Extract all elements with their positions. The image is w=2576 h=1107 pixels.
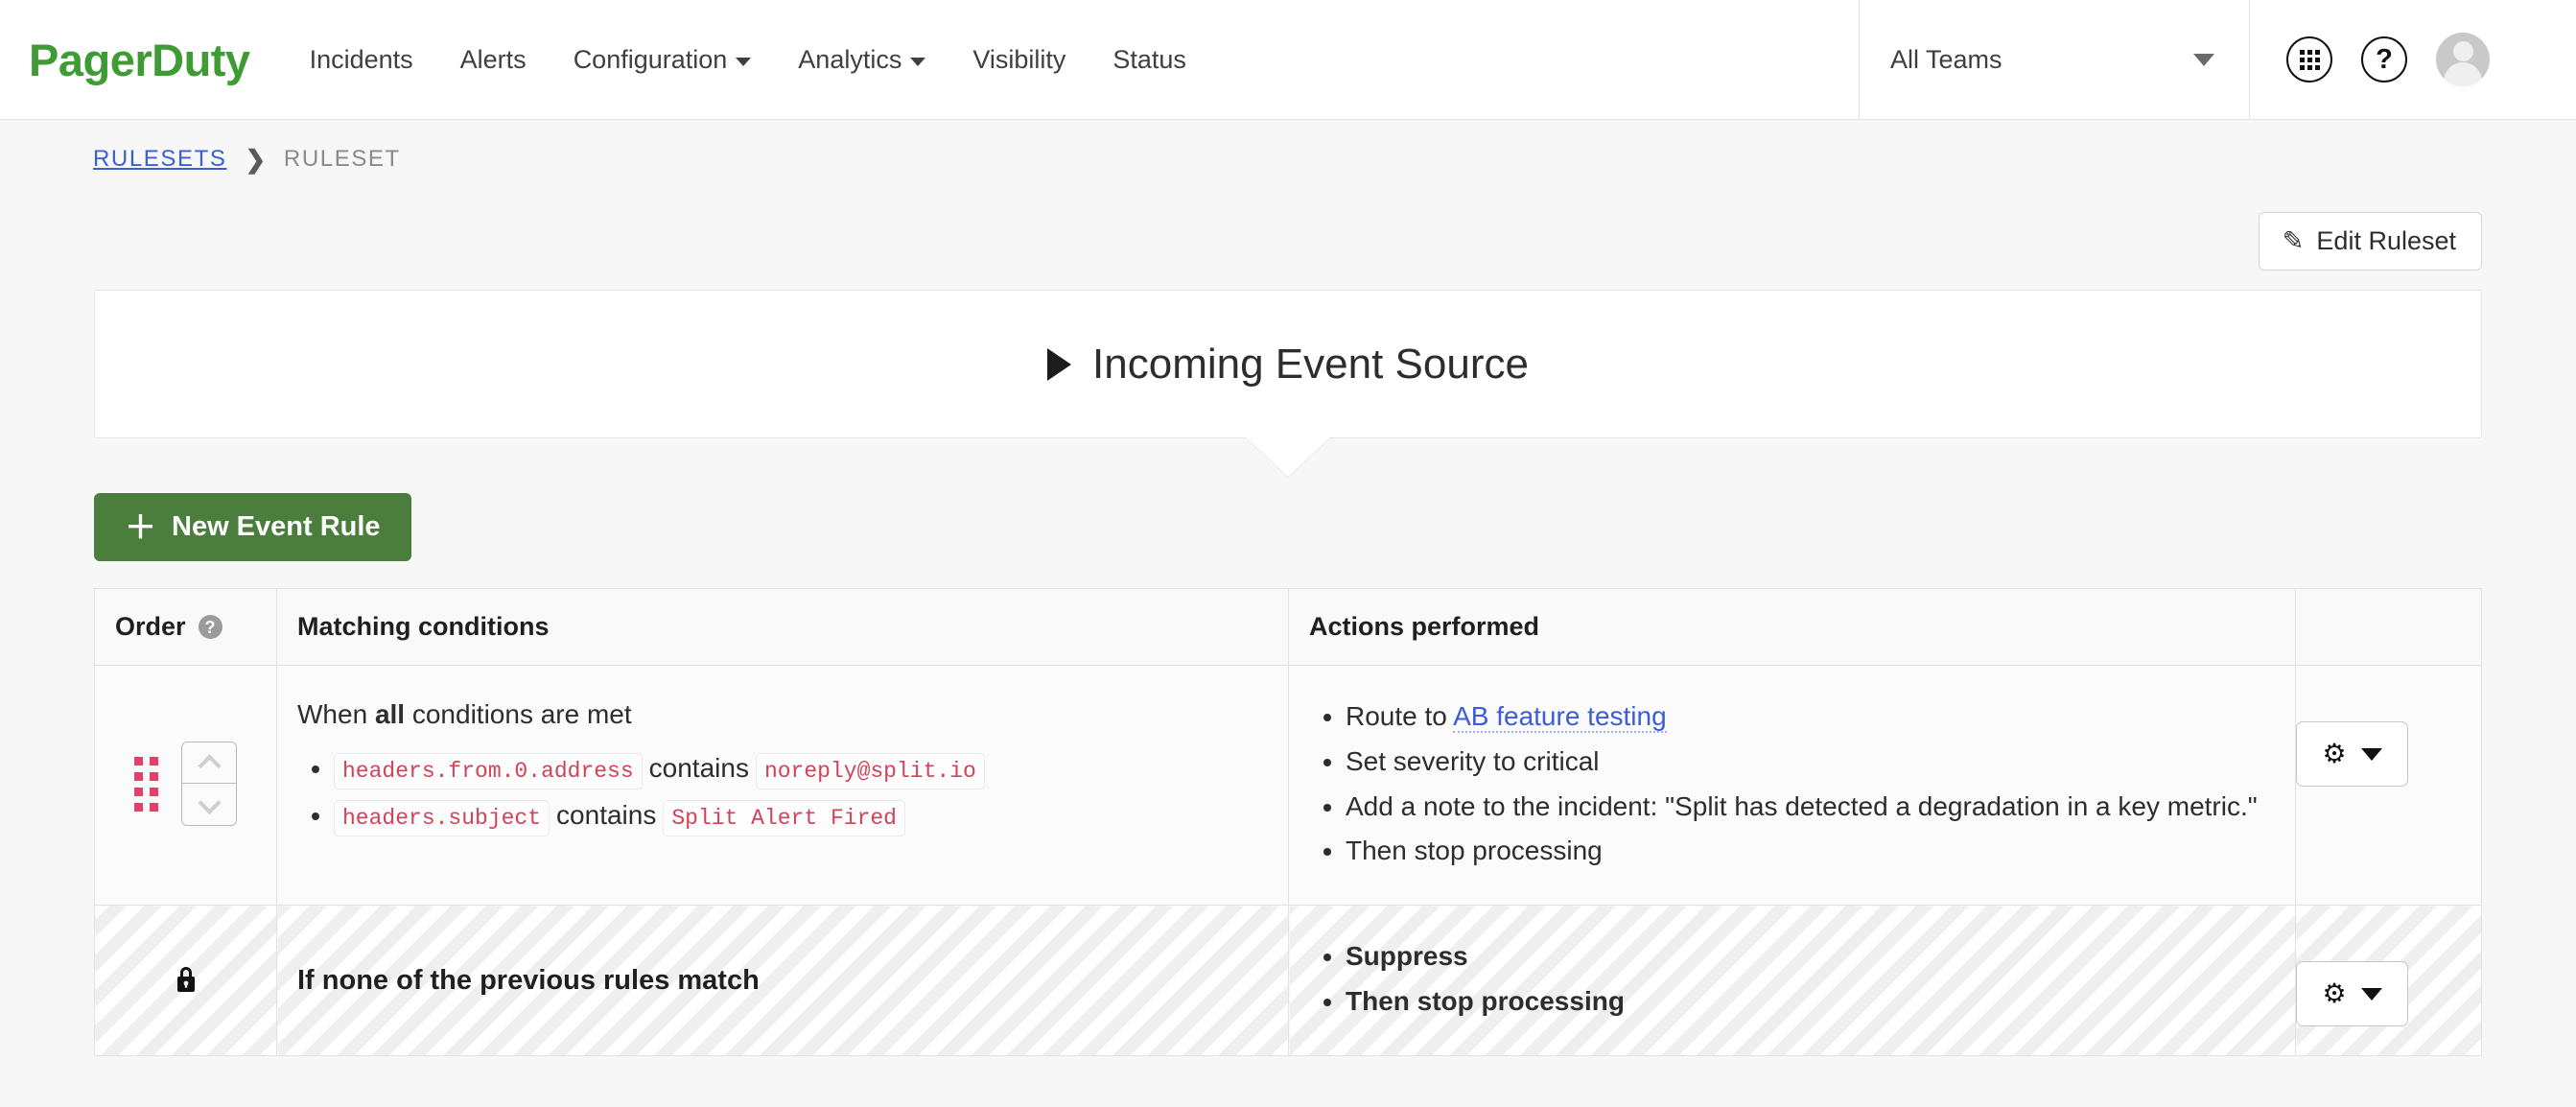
column-header-matching: Matching conditions — [277, 589, 1289, 666]
chevron-down-icon — [736, 58, 751, 66]
edit-ruleset-button[interactable]: ✎ Edit Ruleset — [2259, 212, 2482, 271]
action-item-stop: Then stop processing — [1346, 830, 2275, 873]
incoming-event-source-panel[interactable]: Incoming Event Source — [94, 290, 2482, 438]
nav-item-alerts-label: Alerts — [460, 45, 527, 75]
condition-value: Split Alert Fired — [663, 800, 905, 836]
action-item-note: Add a note to the incident: "Split has d… — [1346, 786, 2275, 829]
avatar[interactable] — [2436, 33, 2490, 86]
column-header-order-label: Order — [115, 612, 186, 642]
incoming-event-source-toggle[interactable]: Incoming Event Source — [1047, 341, 1529, 389]
nav-item-visibility[interactable]: Visibility — [972, 45, 1066, 75]
nav-item-incidents-label: Incidents — [310, 45, 413, 75]
action-item-suppress: Suppress — [1346, 935, 2275, 978]
gear-icon: ⚙ — [2322, 741, 2346, 767]
catchall-actions-list: Suppress Then stop processing — [1309, 935, 2275, 1024]
primary-nav: Incidents Alerts Configuration Analytics… — [310, 45, 1186, 75]
top-navbar: PagerDuty Incidents Alerts Configuration… — [0, 0, 2576, 120]
event-source-panel-wrap: Incoming Event Source — [0, 290, 2576, 438]
nav-item-configuration[interactable]: Configuration — [574, 45, 752, 75]
conditions-list: headers.from.0.addresscontainsnoreply@sp… — [297, 746, 1268, 838]
caret-down-icon — [2361, 748, 2382, 761]
condition-item: headers.from.0.addresscontainsnoreply@sp… — [334, 746, 1268, 790]
table-row: If none of the previous rules match Supp… — [95, 906, 2482, 1056]
new-event-rule-row: ＋ New Event Rule — [0, 493, 2576, 561]
plus-icon: ＋ — [125, 511, 156, 543]
panel-pointer-tail — [1246, 437, 1330, 477]
condition-field: headers.subject — [334, 800, 550, 836]
when-strong: all — [375, 699, 405, 729]
rules-table-body: When all conditions are met headers.from… — [95, 666, 2482, 1056]
condition-value: noreply@split.io — [756, 753, 985, 789]
nav-item-analytics-label: Analytics — [798, 45, 902, 75]
catchall-label-cell: If none of the previous rules match — [277, 906, 1289, 1056]
event-rules-table: Order ? Matching conditions Actions perf… — [94, 588, 2482, 1056]
column-header-order: Order ? — [95, 589, 277, 666]
chevron-right-icon: ❯ — [246, 145, 268, 175]
condition-operator: contains — [649, 753, 749, 783]
rules-table-head: Order ? Matching conditions Actions perf… — [95, 589, 2482, 666]
row-menu-cell: ⚙ — [2296, 666, 2482, 906]
nav-item-configuration-label: Configuration — [574, 45, 728, 75]
catchall-label: If none of the previous rules match — [297, 935, 1268, 997]
condition-operator: contains — [556, 800, 656, 830]
breadcrumb: RULESETS ❯ RULESET — [0, 120, 2576, 199]
move-up-button[interactable] — [182, 742, 236, 784]
rules-table-wrap: Order ? Matching conditions Actions perf… — [0, 588, 2576, 1056]
question-mark-icon: ? — [2376, 46, 2393, 74]
nav-item-analytics[interactable]: Analytics — [798, 45, 925, 75]
rule-settings-menu-button[interactable]: ⚙ — [2296, 721, 2408, 787]
edit-ruleset-row: ✎ Edit Ruleset — [0, 212, 2576, 271]
navbar-right: ? — [2250, 0, 2576, 119]
action-item-severity: Set severity to critical — [1346, 741, 2275, 784]
catchall-actions-cell: Suppress Then stop processing — [1289, 906, 2296, 1056]
edit-ruleset-label: Edit Ruleset — [2316, 226, 2456, 256]
caret-down-icon — [2361, 988, 2382, 1001]
breadcrumb-rulesets-link[interactable]: RULESETS — [93, 146, 227, 173]
column-header-menu — [2296, 589, 2482, 666]
new-event-rule-button[interactable]: ＋ New Event Rule — [94, 493, 411, 561]
gear-icon: ⚙ — [2322, 980, 2346, 1007]
apps-grid-button[interactable] — [2286, 36, 2332, 82]
nav-item-incidents[interactable]: Incidents — [310, 45, 413, 75]
team-selector[interactable]: All Teams — [1859, 0, 2250, 119]
catchall-settings-menu-button[interactable]: ⚙ — [2296, 961, 2408, 1026]
pencil-square-icon: ✎ — [2283, 226, 2305, 256]
team-selector-value: All Teams — [1890, 45, 2002, 75]
new-event-rule-label: New Event Rule — [172, 511, 381, 543]
drag-handle-icon[interactable] — [134, 757, 158, 812]
breadcrumb-current: RULESET — [284, 146, 401, 173]
actions-performed-cell: Route to AB feature testing Set severity… — [1289, 666, 2296, 906]
navbar-left: PagerDuty Incidents Alerts Configuration… — [0, 0, 1859, 119]
action-route-prefix: Route to — [1346, 701, 1453, 731]
reorder-stepper — [181, 742, 237, 826]
when-suffix: conditions are met — [405, 699, 632, 729]
triangle-right-icon — [1047, 348, 1071, 381]
catchall-menu-cell: ⚙ — [2296, 906, 2482, 1056]
table-header-row: Order ? Matching conditions Actions perf… — [95, 589, 2482, 666]
chevron-down-icon — [910, 58, 925, 66]
chevron-down-icon — [2193, 54, 2214, 66]
incoming-event-source-label: Incoming Event Source — [1092, 341, 1529, 389]
action-item-stop: Then stop processing — [1346, 980, 2275, 1024]
lock-icon — [174, 964, 199, 1000]
nav-item-visibility-label: Visibility — [972, 45, 1066, 75]
service-link[interactable]: AB feature testing — [1453, 701, 1667, 733]
condition-field: headers.from.0.address — [334, 753, 643, 789]
chevron-up-icon — [198, 754, 221, 777]
condition-item: headers.subjectcontainsSplit Alert Fired — [334, 793, 1268, 837]
nav-item-status[interactable]: Status — [1112, 45, 1186, 75]
catchall-order-cell — [95, 906, 277, 1056]
chevron-down-icon — [198, 791, 221, 814]
nav-item-alerts[interactable]: Alerts — [460, 45, 527, 75]
matching-conditions-cell: When all conditions are met headers.from… — [277, 666, 1289, 906]
action-item-route: Route to AB feature testing — [1346, 695, 2275, 739]
column-header-actions: Actions performed — [1289, 589, 2296, 666]
nav-item-status-label: Status — [1112, 45, 1186, 75]
grid-apps-icon — [2300, 50, 2320, 70]
table-row: When all conditions are met headers.from… — [95, 666, 2482, 906]
actions-list: Route to AB feature testing Set severity… — [1309, 695, 2275, 873]
question-circle-icon[interactable]: ? — [199, 615, 222, 639]
pagerduty-logo[interactable]: PagerDuty — [29, 37, 250, 82]
order-cell — [95, 666, 277, 906]
when-prefix: When — [297, 699, 375, 729]
move-down-button[interactable] — [182, 784, 236, 825]
help-button[interactable]: ? — [2361, 36, 2407, 82]
when-conditions-line: When all conditions are met — [297, 699, 1268, 730]
